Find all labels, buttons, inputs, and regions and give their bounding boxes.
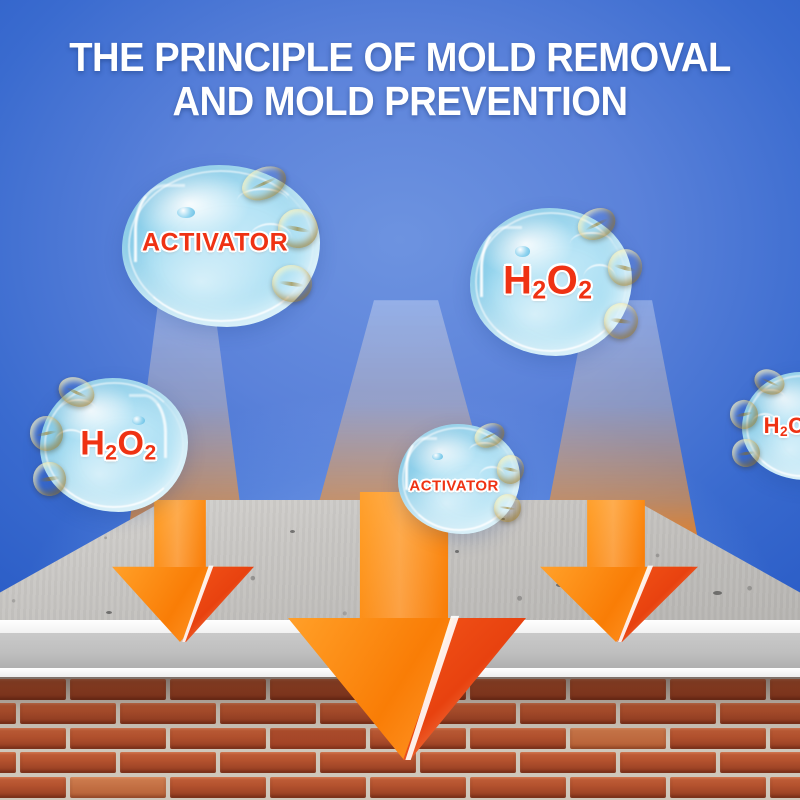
bubble-label: ACTIVATOR bbox=[110, 228, 320, 257]
poster-scene: THE PRINCIPLE OF MOLD REMOVAL AND MOLD P… bbox=[0, 0, 800, 800]
bubble-h2o2-edge-right: H2O2 bbox=[742, 372, 800, 480]
bubble-label: H2O2 bbox=[764, 413, 800, 439]
penetration-arrow-right bbox=[540, 500, 692, 642]
bubble-label: ACTIVATOR bbox=[388, 477, 520, 494]
bubble-h2o2-left: H2O2 bbox=[40, 378, 188, 512]
bubble-label: H2O2 bbox=[49, 425, 188, 466]
page-title: THE PRINCIPLE OF MOLD REMOVAL AND MOLD P… bbox=[28, 36, 772, 124]
bubble-activator-small: ACTIVATOR bbox=[398, 424, 520, 534]
bubble-label: H2O2 bbox=[464, 258, 632, 305]
penetration-arrow-left bbox=[112, 500, 248, 642]
bubble-activator-large: ACTIVATOR bbox=[122, 165, 320, 327]
bubble-h2o2-upper-right: H2O2 bbox=[470, 208, 632, 356]
